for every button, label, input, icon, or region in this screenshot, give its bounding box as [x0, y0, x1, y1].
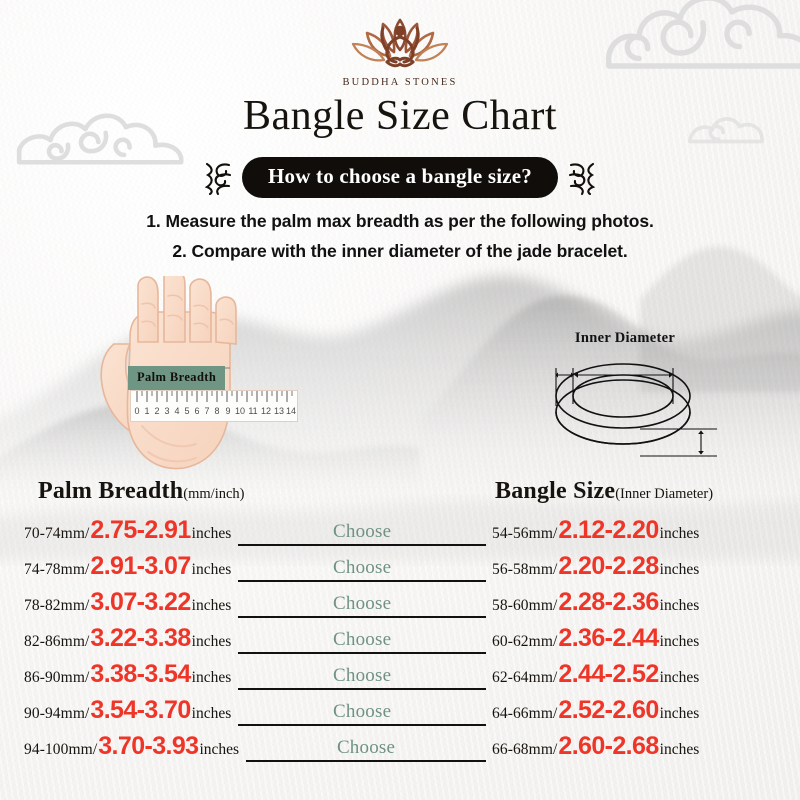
- bangle-size-section-title: Bangle Size: [495, 478, 615, 504]
- instruction-line-1: 1. Measure the palm max breadth as per t…: [0, 206, 800, 236]
- mm-range: 86-90mm/: [24, 669, 89, 687]
- table-row: 60-62mm/2.36-2.44inches: [492, 624, 784, 660]
- inches-unit-label: inches: [192, 525, 232, 543]
- table-row[interactable]: 86-90mm/3.38-3.54inchesChoose: [24, 660, 486, 696]
- palm-breadth-section-title: Palm Breadth: [38, 478, 183, 504]
- inch-range: 3.38-3.54: [90, 660, 190, 689]
- inch-range: 2.52-2.60: [558, 696, 658, 725]
- mm-range: 90-94mm/: [24, 705, 89, 723]
- mm-range: 64-66mm/: [492, 705, 557, 723]
- svg-text:10: 10: [235, 406, 245, 416]
- inch-range: 2.20-2.28: [558, 552, 658, 581]
- inches-unit-label: inches: [660, 597, 700, 615]
- table-row: 58-60mm/2.28-2.36inches: [492, 588, 784, 624]
- table-row: 66-68mm/2.60-2.68inches: [492, 732, 784, 768]
- table-row: 56-58mm/2.20-2.28inches: [492, 552, 784, 588]
- bangle-size-table: 54-56mm/2.12-2.20inches56-58mm/2.20-2.28…: [492, 516, 784, 768]
- inches-unit-label: inches: [660, 633, 700, 651]
- table-row: 64-66mm/2.52-2.60inches: [492, 696, 784, 732]
- inches-unit-label: inches: [660, 561, 700, 579]
- choose-field[interactable]: Choose: [238, 588, 486, 624]
- mm-range: 94-100mm/: [24, 741, 97, 759]
- ruler-graphic: 0 1 2 3 4 5 6 7 8 9 10 11 12 13 14: [130, 390, 298, 422]
- bangle-ring-icon: [505, 330, 745, 475]
- table-row[interactable]: 74-78mm/2.91-3.07inchesChoose: [24, 552, 486, 588]
- choose-button[interactable]: Choose: [333, 557, 391, 583]
- svg-text:0: 0: [134, 406, 139, 416]
- choose-button[interactable]: Choose: [337, 737, 395, 763]
- choose-button[interactable]: Choose: [333, 665, 391, 691]
- table-row: 62-64mm/2.44-2.52inches: [492, 660, 784, 696]
- svg-text:2: 2: [154, 406, 159, 416]
- choose-button[interactable]: Choose: [333, 629, 391, 655]
- table-row[interactable]: 82-86mm/3.22-3.38inchesChoose: [24, 624, 486, 660]
- instructions-block: 1. Measure the palm max breadth as per t…: [0, 206, 800, 266]
- inch-range: 3.22-3.38: [90, 624, 190, 653]
- choose-button[interactable]: Choose: [333, 593, 391, 619]
- mm-range: 78-82mm/: [24, 597, 89, 615]
- inches-unit-label: inches: [192, 705, 232, 723]
- bangle-size-section-header: Bangle Size(Inner Diameter): [495, 478, 713, 505]
- table-row[interactable]: 94-100mm/3.70-3.93inchesChoose: [24, 732, 486, 768]
- svg-text:7: 7: [204, 406, 209, 416]
- lotus-meditation-logo-icon: [347, 8, 453, 76]
- palm-breadth-section-unit: (mm/inch): [183, 486, 244, 502]
- choose-field[interactable]: Choose: [238, 552, 486, 588]
- inch-range: 2.12-2.20: [558, 516, 658, 545]
- svg-text:14: 14: [286, 406, 296, 416]
- palm-breadth-section-header: Palm Breadth(mm/inch): [38, 478, 245, 505]
- inches-unit-label: inches: [192, 597, 232, 615]
- inches-unit-label: inches: [192, 561, 232, 579]
- inches-unit-label: inches: [660, 669, 700, 687]
- mm-range: 74-78mm/: [24, 561, 89, 579]
- mm-range: 54-56mm/: [492, 525, 557, 543]
- inches-unit-label: inches: [660, 525, 700, 543]
- table-row: 54-56mm/2.12-2.20inches: [492, 516, 784, 552]
- swirl-ornament-icon: [203, 159, 233, 197]
- inch-range: 2.60-2.68: [558, 732, 658, 761]
- choose-field[interactable]: Choose: [246, 732, 486, 768]
- instruction-line-2: 2. Compare with the inner diameter of th…: [0, 236, 800, 266]
- inches-unit-label: inches: [192, 669, 232, 687]
- mm-range: 56-58mm/: [492, 561, 557, 579]
- mm-range: 62-64mm/: [492, 669, 557, 687]
- mm-range: 60-62mm/: [492, 633, 557, 651]
- choose-field[interactable]: Choose: [238, 516, 486, 552]
- svg-text:13: 13: [274, 406, 284, 416]
- mm-range: 70-74mm/: [24, 525, 89, 543]
- mm-range: 58-60mm/: [492, 597, 557, 615]
- inches-unit-label: inches: [192, 633, 232, 651]
- bangle-size-section-unit: (Inner Diameter): [615, 486, 713, 502]
- brand-name: BUDDHA STONES: [342, 77, 457, 88]
- svg-text:1: 1: [144, 406, 149, 416]
- inch-range: 3.07-3.22: [90, 588, 190, 617]
- choose-field[interactable]: Choose: [238, 660, 486, 696]
- inch-range: 3.70-3.93: [98, 732, 198, 761]
- choose-button[interactable]: Choose: [333, 521, 391, 547]
- table-row[interactable]: 90-94mm/3.54-3.70inchesChoose: [24, 696, 486, 732]
- svg-text:6: 6: [194, 406, 199, 416]
- svg-text:9: 9: [225, 406, 230, 416]
- swirl-ornament-icon: [567, 159, 597, 197]
- svg-text:4: 4: [174, 406, 179, 416]
- inches-unit-label: inches: [660, 741, 700, 759]
- page-title: Bangle Size Chart: [0, 92, 800, 140]
- inches-unit-label: inches: [199, 741, 239, 759]
- inch-range: 2.44-2.52: [558, 660, 658, 689]
- subtitle-row: How to choose a bangle size?: [0, 157, 800, 198]
- inch-range: 2.91-3.07: [90, 552, 190, 581]
- inch-range: 3.54-3.70: [90, 696, 190, 725]
- inch-range: 2.75-2.91: [90, 516, 190, 545]
- choose-field[interactable]: Choose: [238, 624, 486, 660]
- inch-range: 2.36-2.44: [558, 624, 658, 653]
- table-row[interactable]: 78-82mm/3.07-3.22inchesChoose: [24, 588, 486, 624]
- choose-button[interactable]: Choose: [333, 701, 391, 727]
- bangle-diagram: Inner Diameter: [505, 330, 745, 475]
- palm-breadth-label: Palm Breadth: [128, 366, 225, 390]
- subtitle-badge: How to choose a bangle size?: [242, 157, 558, 198]
- svg-text:12: 12: [261, 406, 271, 416]
- svg-text:5: 5: [184, 406, 189, 416]
- mm-range: 66-68mm/: [492, 741, 557, 759]
- inch-range: 2.28-2.36: [558, 588, 658, 617]
- hand-illustration: Palm Breadth 0 1 2 3 4 5 6: [96, 276, 336, 476]
- svg-text:3: 3: [164, 406, 169, 416]
- choose-field[interactable]: Choose: [238, 696, 486, 732]
- svg-text:8: 8: [214, 406, 219, 416]
- mm-range: 82-86mm/: [24, 633, 89, 651]
- table-row[interactable]: 70-74mm/2.75-2.91inchesChoose: [24, 516, 486, 552]
- svg-text:11: 11: [248, 406, 257, 416]
- inches-unit-label: inches: [660, 705, 700, 723]
- brand-logo: BUDDHA STONES: [0, 8, 800, 88]
- palm-breadth-table: 70-74mm/2.75-2.91inchesChoose74-78mm/2.9…: [24, 516, 486, 768]
